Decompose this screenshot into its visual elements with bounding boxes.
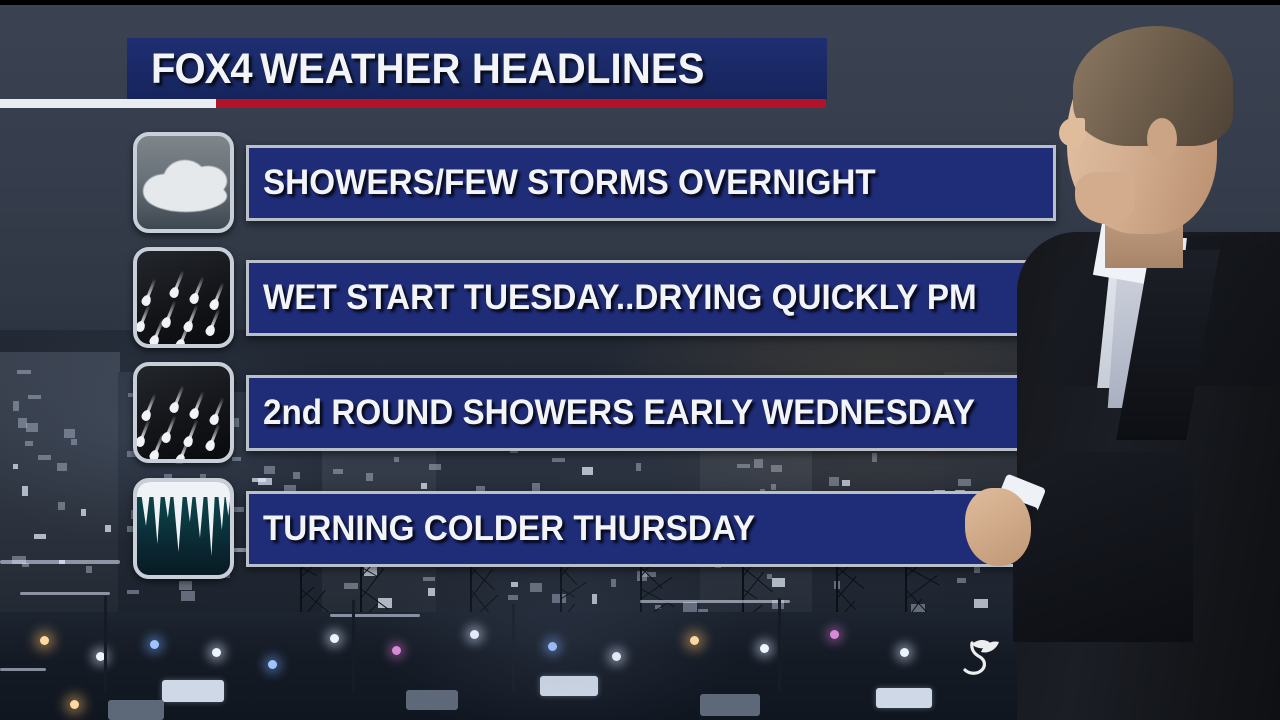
- headline-row[interactable]: SHOWERS/FEW STORMS OVERNIGHT: [133, 132, 1056, 233]
- icicle: [225, 492, 231, 516]
- icicles-icon: [133, 478, 234, 579]
- cloud-puff: [181, 184, 227, 208]
- headline-row[interactable]: TURNING COLDER THURSDAY: [133, 478, 1051, 579]
- headline-text: 2nd ROUND SHOWERS EARLY WEDNESDAY: [263, 393, 975, 433]
- headline-row[interactable]: WET START TUESDAY..DRYING QUICKLY PM: [133, 247, 1056, 348]
- icicle: [186, 492, 193, 522]
- headline-bar[interactable]: SHOWERS/FEW STORMS OVERNIGHT: [246, 145, 1056, 221]
- page-title: FOX4WEATHER HEADLINES: [151, 48, 705, 91]
- icicle: [141, 492, 150, 526]
- title-bar: FOX4WEATHER HEADLINES: [127, 38, 827, 100]
- headline-bar[interactable]: TURNING COLDER THURSDAY: [246, 491, 1051, 567]
- rain-icon: [133, 362, 234, 463]
- leaf-vine-logo-icon: [955, 626, 1015, 682]
- icicle: [195, 492, 204, 538]
- icicle: [164, 492, 171, 518]
- headline-text: TURNING COLDER THURSDAY: [263, 509, 755, 549]
- meteorologist: [955, 0, 1280, 720]
- icicle: [173, 492, 183, 552]
- fox4-logo: FOX4: [151, 45, 260, 93]
- title-rule-red: [216, 99, 826, 108]
- nose: [1059, 118, 1085, 146]
- headline-row[interactable]: 2nd ROUND SHOWERS EARLY WEDNESDAY: [133, 362, 1051, 463]
- headline-text: SHOWERS/FEW STORMS OVERNIGHT: [263, 163, 876, 203]
- title-label: WEATHER HEADLINES: [260, 45, 705, 93]
- cloudy-icon: [133, 132, 234, 233]
- ice-ledge: [137, 482, 230, 497]
- hand: [965, 488, 1031, 566]
- rain-icon: [133, 247, 234, 348]
- ear: [1147, 118, 1177, 160]
- icicle: [207, 492, 215, 556]
- suit-sleeve: [1013, 452, 1193, 642]
- chin: [1075, 172, 1135, 224]
- headline-bar[interactable]: WET START TUESDAY..DRYING QUICKLY PM: [246, 260, 1056, 336]
- headline-text: WET START TUESDAY..DRYING QUICKLY PM: [263, 278, 977, 318]
- broadcast-screen: FOX4WEATHER HEADLINES SHOWERS/FEW STORMS…: [0, 0, 1280, 720]
- title-rule-white: [0, 99, 216, 108]
- icicle: [153, 492, 161, 544]
- headline-bar[interactable]: 2nd ROUND SHOWERS EARLY WEDNESDAY: [246, 375, 1051, 451]
- icicle: [218, 492, 225, 530]
